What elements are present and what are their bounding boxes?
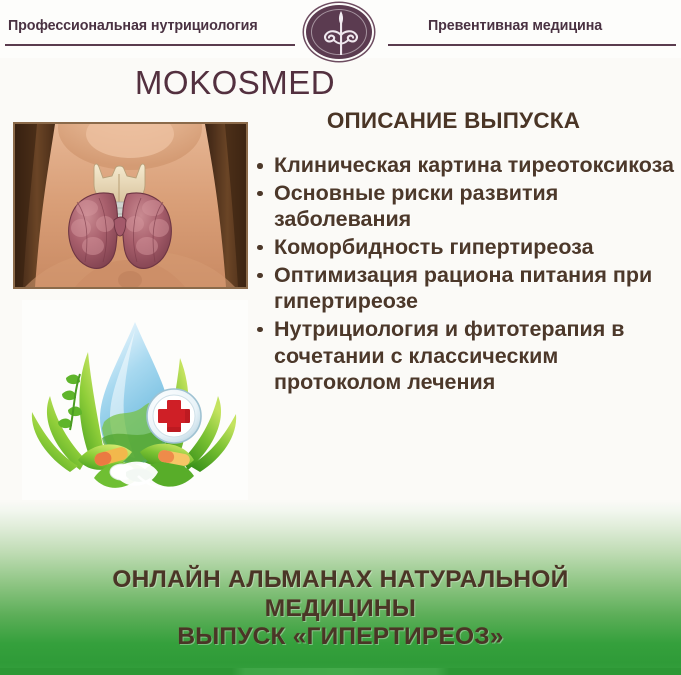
list-item: Основные риски развития заболевания bbox=[252, 180, 677, 233]
list-item: Нутрициология и фитотерапия в сочетании … bbox=[252, 316, 677, 396]
poster-root: Профессиональная нутрициология Превентив… bbox=[0, 0, 681, 675]
list-item: Коморбидность гипертиреоза bbox=[252, 234, 677, 261]
page-title: ОПИСАНИЕ ВЫПУСКА bbox=[252, 108, 677, 134]
herbal-water-droplet-red-cross-illustration bbox=[22, 300, 248, 512]
header-left-rule bbox=[5, 44, 295, 46]
banner-text-block: ОНЛАЙН АЛЬМАНАХ НАТУРАЛЬНОЙ МЕДИЦИНЫ ВЫП… bbox=[0, 566, 681, 652]
banner-line-3: ВЫПУСК «ГИПЕРТИРЕОЗ» bbox=[0, 623, 681, 652]
header-left-label: Профессиональная нутрициология bbox=[8, 18, 258, 34]
thyroid-gland-anatomy-illustration bbox=[13, 122, 248, 289]
header-right-label: Превентивная медицина bbox=[428, 18, 602, 34]
brand-wordmark: MOKOSMED bbox=[0, 64, 470, 102]
list-item: Оптимизация рациона питания при гипертир… bbox=[252, 262, 677, 315]
content-panel: ОПИСАНИЕ ВЫПУСКА Клиническая картина тир… bbox=[252, 108, 677, 397]
banner-bottom-strip bbox=[0, 668, 681, 675]
header-band: Профессиональная нутрициология Превентив… bbox=[0, 0, 681, 58]
banner-line-2: МЕДИЦИНЫ bbox=[0, 595, 681, 624]
feature-list: Клиническая картина тиреотоксикоза Основ… bbox=[252, 152, 677, 396]
list-item: Клиническая картина тиреотоксикоза bbox=[252, 152, 677, 179]
header-right-rule bbox=[388, 44, 676, 46]
banner-line-1: ОНЛАЙН АЛЬМАНАХ НАТУРАЛЬНОЙ bbox=[0, 566, 681, 595]
caduceus-emblem-icon bbox=[304, 3, 374, 61]
